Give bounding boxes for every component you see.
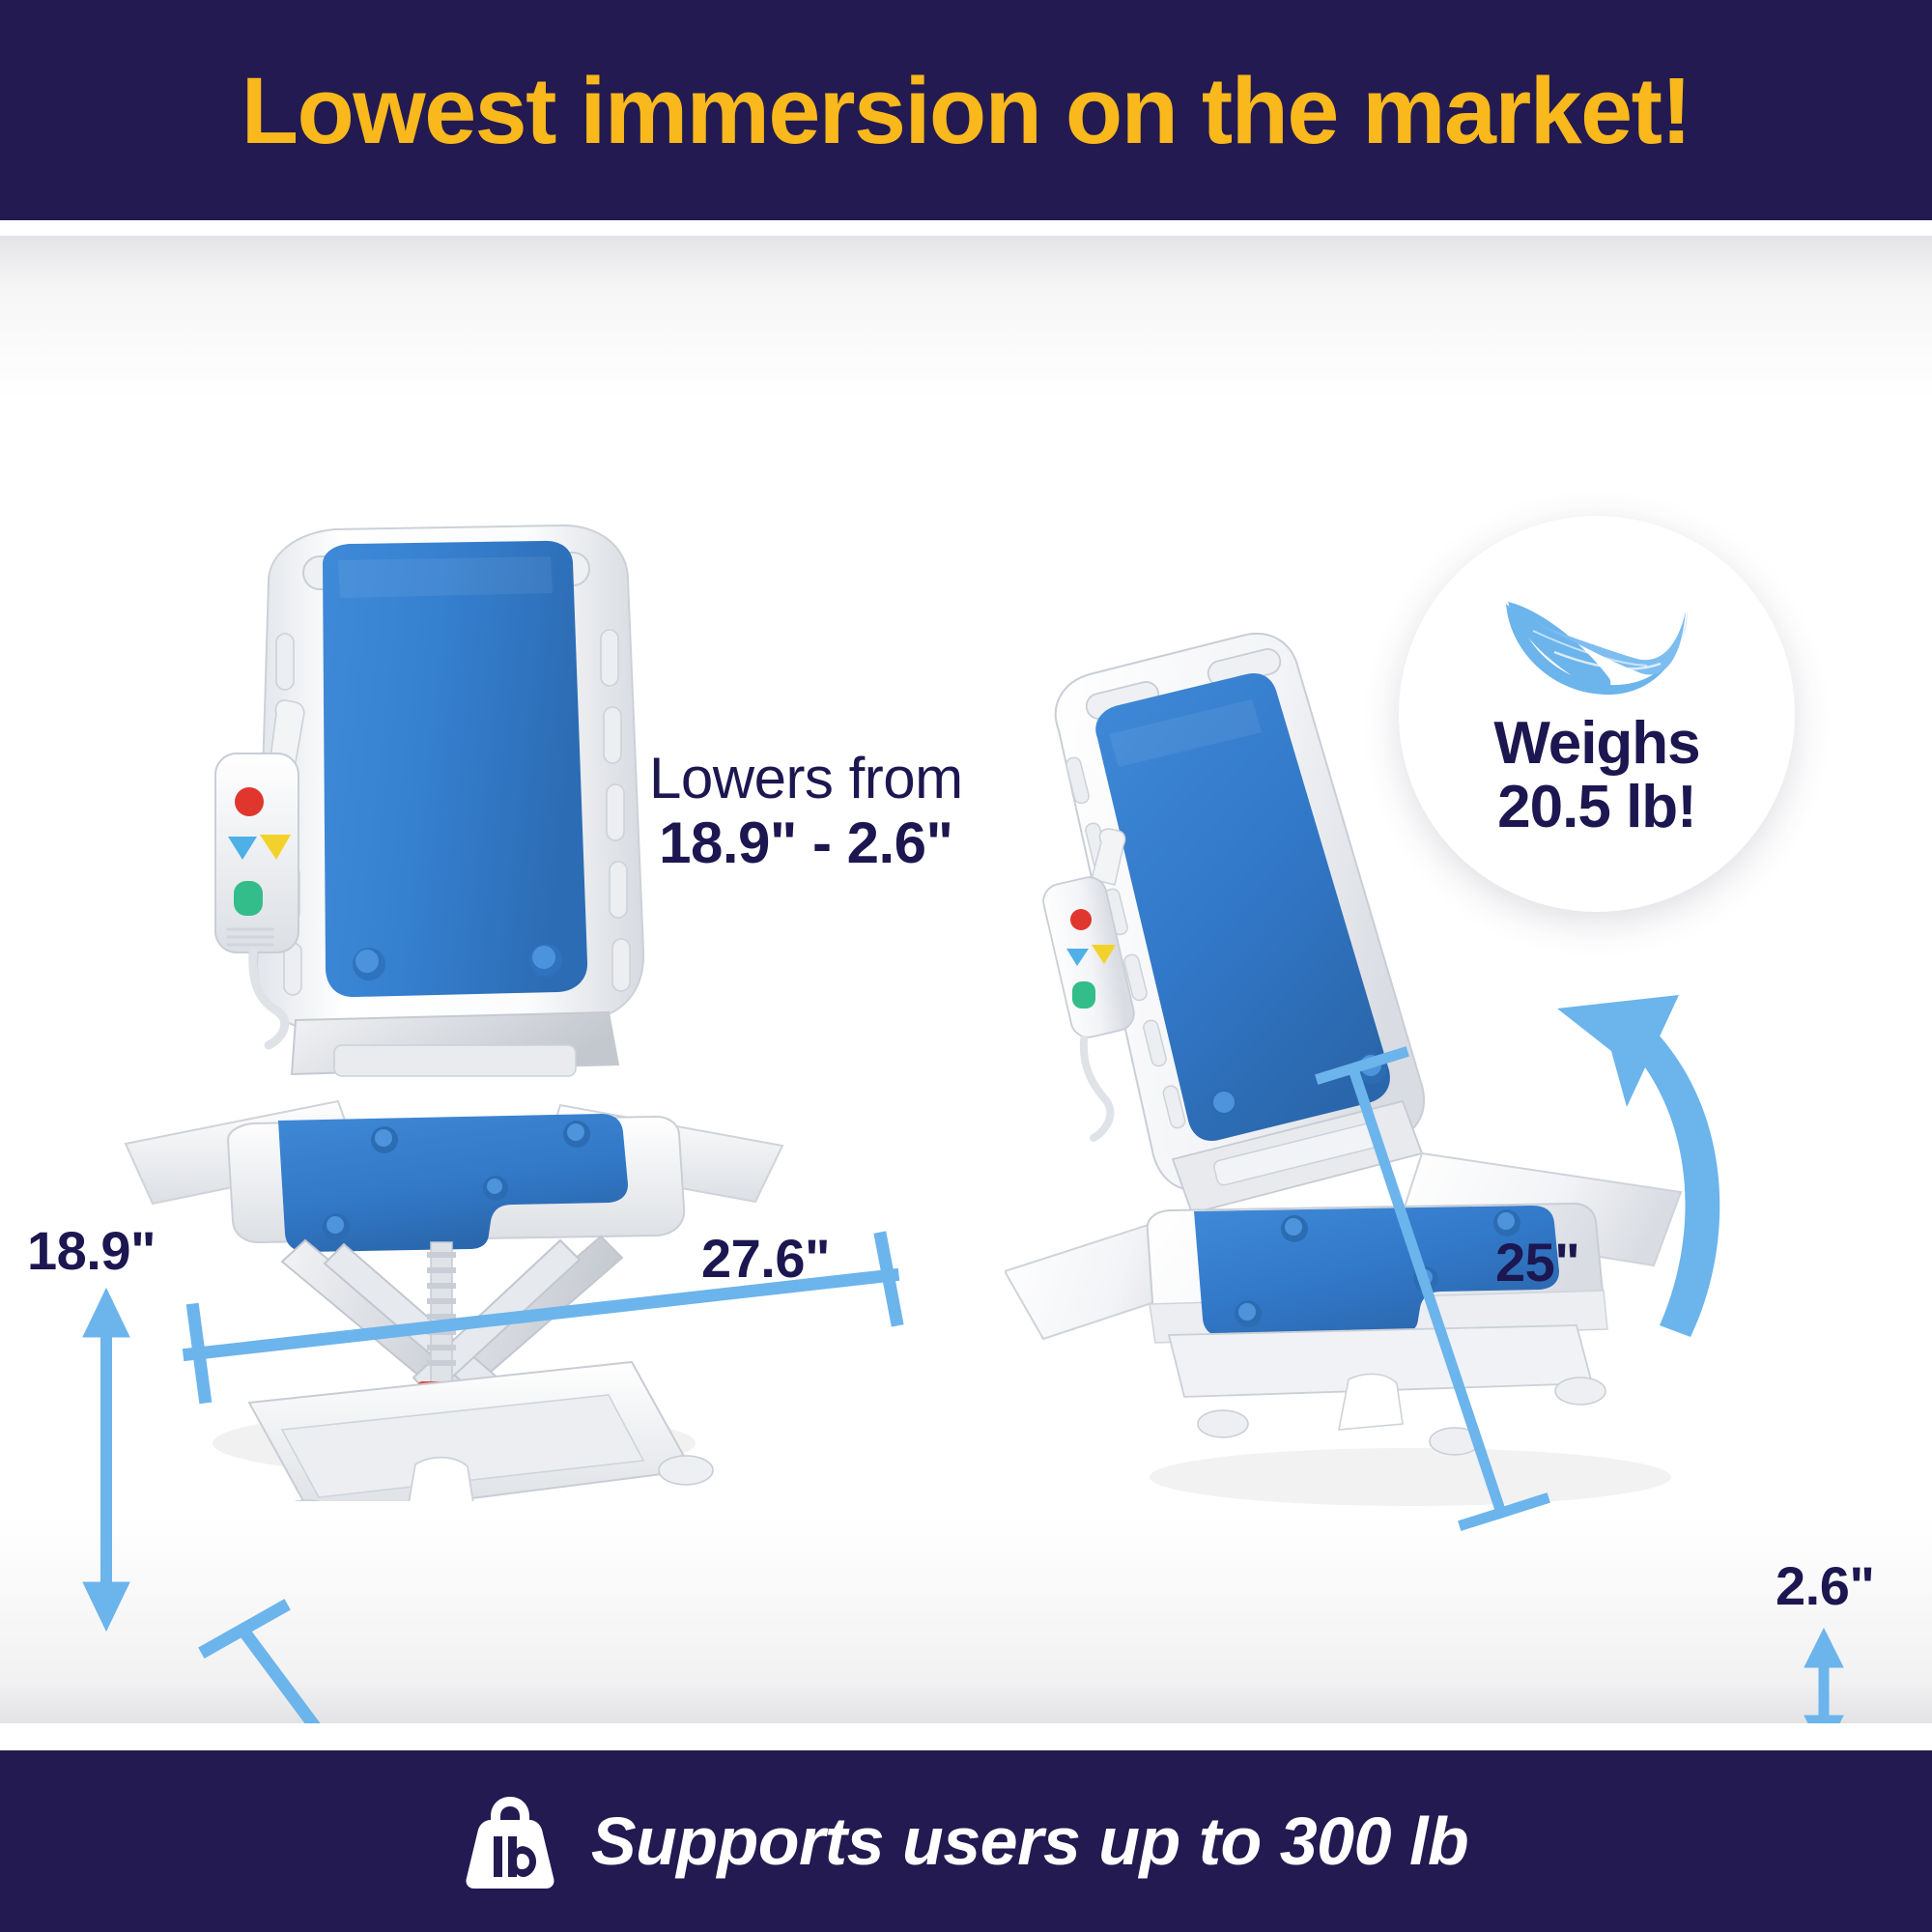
product-image-left-raised [106, 274, 802, 1501]
weight-lb-icon [464, 1793, 556, 1889]
badge-line-2: 20.5 lb! [1497, 776, 1696, 839]
footer-capacity-text: Supports users up to 300 lb [591, 1803, 1468, 1880]
lowers-from-range: 18.9" - 2.6" [649, 810, 963, 875]
lowers-from-callout: Lowers from 18.9" - 2.6" [649, 746, 963, 875]
weight-badge: Weighs 20.5 lb! [1399, 516, 1795, 912]
lowers-from-label: Lowers from [649, 746, 963, 810]
infographic-page: Lowest immersion on the market! [0, 0, 1932, 1932]
product-stage: Lowers from 18.9" - 2.6" 18.9" 27.6" 22.… [0, 236, 1932, 1723]
footer-banner: Supports users up to 300 lb [0, 1750, 1932, 1932]
dimension-label-height-raised: 18.9" [27, 1219, 156, 1282]
header-title: Lowest immersion on the market! [241, 64, 1690, 157]
feather-icon [1496, 588, 1697, 704]
dimension-arrow-height-lowered [1804, 1629, 1843, 1723]
dimension-label-height-lowered: 2.6" [1776, 1554, 1874, 1617]
dimension-label-backrest-height: 25" [1495, 1231, 1579, 1293]
badge-line-1: Weighs [1493, 712, 1699, 776]
dimension-label-seat-width: 27.6" [701, 1227, 830, 1290]
header-banner: Lowest immersion on the market! [0, 0, 1932, 220]
dimension-line-base-length [207, 1607, 483, 1723]
